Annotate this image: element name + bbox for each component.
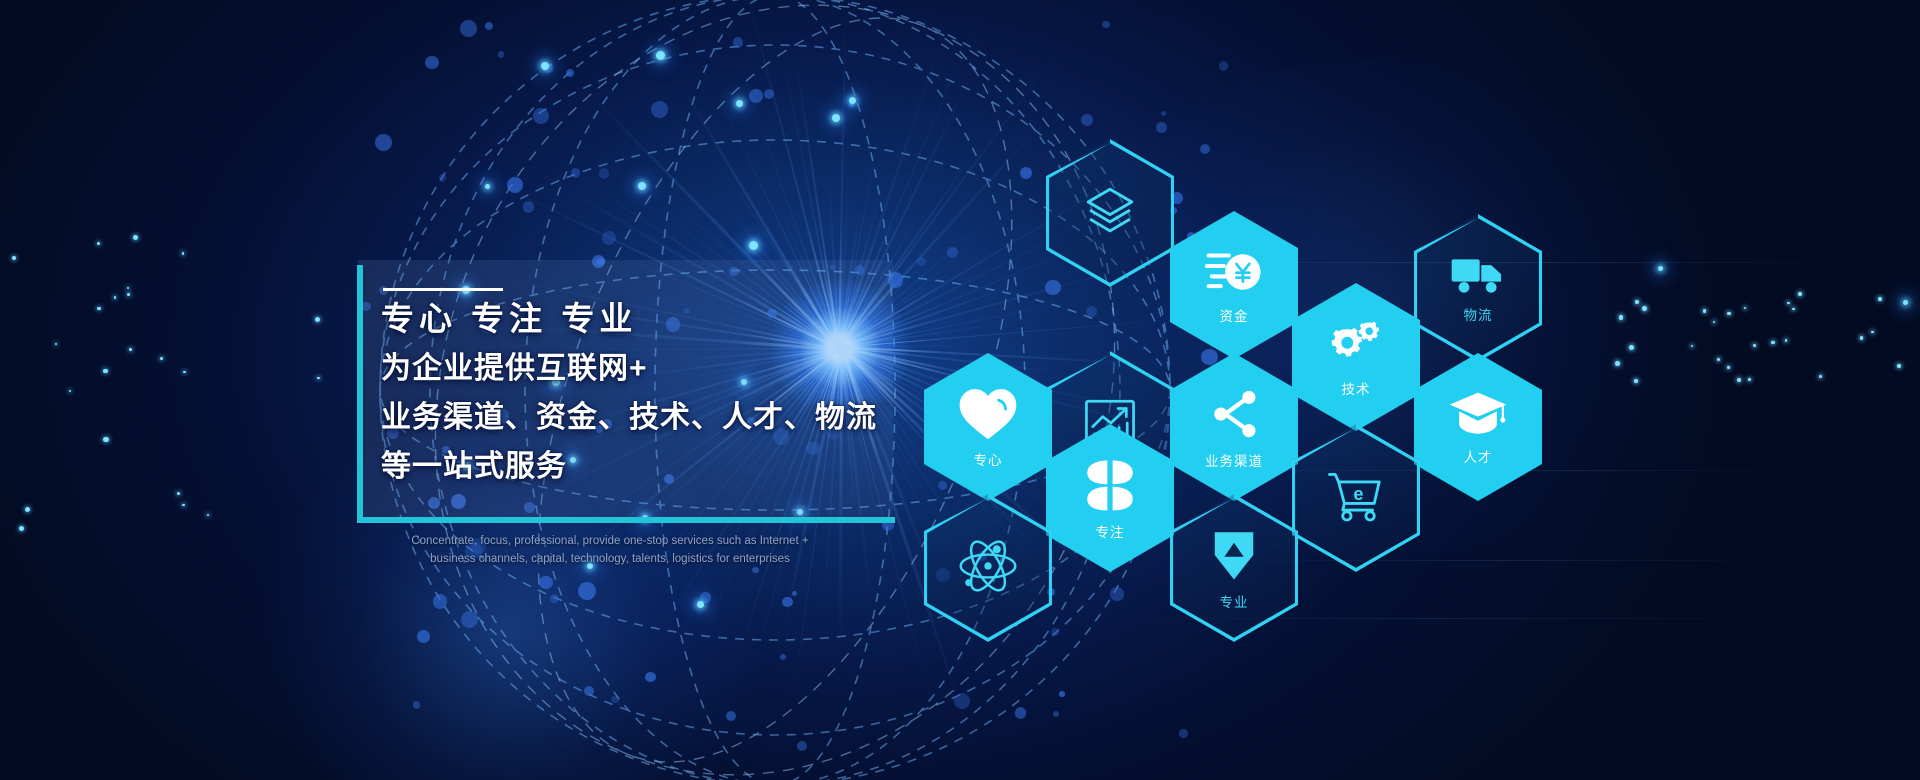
clover-icon — [1082, 457, 1138, 518]
hexagon-label: 专注 — [1096, 526, 1125, 540]
hexagon-content: 业务渠道 — [1205, 386, 1263, 469]
shopping-cart-e-icon: e — [1327, 470, 1385, 527]
gears-icon — [1327, 318, 1385, 375]
svg-text:e: e — [1353, 484, 1363, 504]
hexagon-tile-pro[interactable]: 专业 — [1170, 494, 1298, 642]
hexagon-content: 技术 — [1327, 318, 1385, 397]
share-nodes-icon — [1206, 386, 1262, 447]
hexagon-label: 人才 — [1464, 451, 1493, 465]
hexagon-tile-capital[interactable]: 资金 — [1170, 211, 1298, 359]
hexagon-content: 资金 — [1205, 247, 1263, 324]
hexagon-tile-atom[interactable] — [924, 494, 1052, 642]
hexagon-tile-focusheart[interactable]: 专心 — [924, 353, 1052, 501]
hexagon-content: e — [1327, 470, 1385, 527]
hexagon-content — [957, 537, 1019, 600]
hexagon-tile-focus[interactable]: 专注 — [1046, 424, 1174, 572]
diamond-icon — [1210, 527, 1258, 588]
truck-icon — [1450, 254, 1506, 301]
hexagon-tile-channels[interactable]: 业务渠道 — [1170, 353, 1298, 501]
graduation-cap-icon — [1448, 390, 1508, 443]
hexagon-label: 物流 — [1464, 309, 1493, 323]
hexagon-label: 技术 — [1342, 383, 1371, 397]
hexagon-content: 物流 — [1450, 254, 1506, 323]
atom-icon — [957, 537, 1019, 600]
heart-icon — [957, 386, 1019, 446]
hexagon-tile-logistics[interactable]: 物流 — [1414, 214, 1542, 362]
layers-icon — [1081, 182, 1139, 245]
yen-coin-icon — [1205, 247, 1263, 302]
hexagon-label: 资金 — [1220, 310, 1249, 324]
hexagon-tile-talents[interactable]: 人才 — [1414, 353, 1542, 501]
hexagon-content: 专业 — [1210, 527, 1258, 610]
hexagon-content: 人才 — [1448, 390, 1508, 465]
hexagon-content — [1081, 182, 1139, 245]
hero-banner: 专心 专注 专业 为企业提供互联网+ 业务渠道、资金、技术、人才、物流 等一站式… — [0, 0, 1920, 780]
hexagon-tile-layers[interactable] — [1046, 139, 1174, 287]
hexagon-cluster: 资金 物流 技术 专心 — [0, 0, 1920, 780]
hexagon-label: 业务渠道 — [1205, 455, 1263, 469]
hexagon-tile-tech[interactable]: 技术 — [1292, 283, 1420, 431]
hexagon-label: 专心 — [974, 454, 1003, 468]
hexagon-content: 专注 — [1082, 457, 1138, 540]
hexagon-label: 专业 — [1220, 596, 1249, 610]
hexagon-content: 专心 — [957, 386, 1019, 468]
hexagon-tile-ecommerce[interactable]: e — [1292, 424, 1420, 572]
